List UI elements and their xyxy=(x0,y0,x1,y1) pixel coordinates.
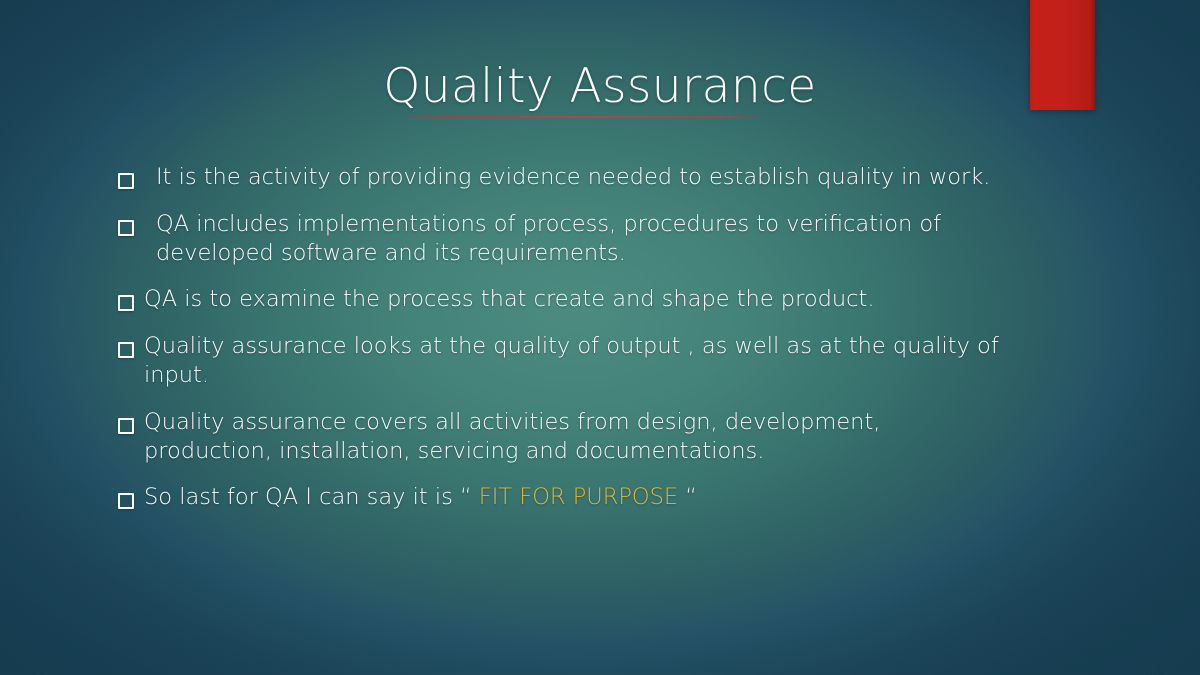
list-item-text: Quality assurance looks at the quality o… xyxy=(144,332,1006,390)
list-item-text: Quality assurance covers all activities … xyxy=(144,408,1006,466)
hollow-square-bullet-icon xyxy=(118,493,134,509)
hollow-square-bullet-icon xyxy=(118,173,134,189)
list-item: QA is to examine the process that create… xyxy=(118,285,1018,314)
list-item-text-after: “ xyxy=(678,484,697,510)
list-item-text: So last for QA I can say it is “ FIT FOR… xyxy=(144,483,697,512)
bullet-list: It is the activity of providing evidence… xyxy=(118,163,1018,530)
list-item-text-before: So last for QA I can say it is “ xyxy=(144,484,479,510)
list-item-text: QA includes implementations of process, … xyxy=(156,210,1018,268)
list-item: So last for QA I can say it is “ FIT FOR… xyxy=(118,483,1018,512)
hollow-square-bullet-icon xyxy=(118,220,134,236)
list-item-text: It is the activity of providing evidence… xyxy=(156,163,990,192)
title-underline-rule xyxy=(408,116,760,118)
hollow-square-bullet-icon xyxy=(118,418,134,434)
highlighted-phrase: FIT FOR PURPOSE xyxy=(479,484,678,510)
list-item: Quality assurance looks at the quality o… xyxy=(118,332,1018,390)
hollow-square-bullet-icon xyxy=(118,342,134,358)
presentation-slide: Quality Assurance It is the activity of … xyxy=(0,0,1200,675)
page-title: Quality Assurance xyxy=(379,62,820,120)
list-item: It is the activity of providing evidence… xyxy=(118,163,1018,192)
list-item: QA includes implementations of process, … xyxy=(118,210,1018,268)
list-item-text: QA is to examine the process that create… xyxy=(144,285,875,314)
hollow-square-bullet-icon xyxy=(118,295,134,311)
list-item: Quality assurance covers all activities … xyxy=(118,408,1018,466)
slide-title-container: Quality Assurance xyxy=(0,62,1200,120)
